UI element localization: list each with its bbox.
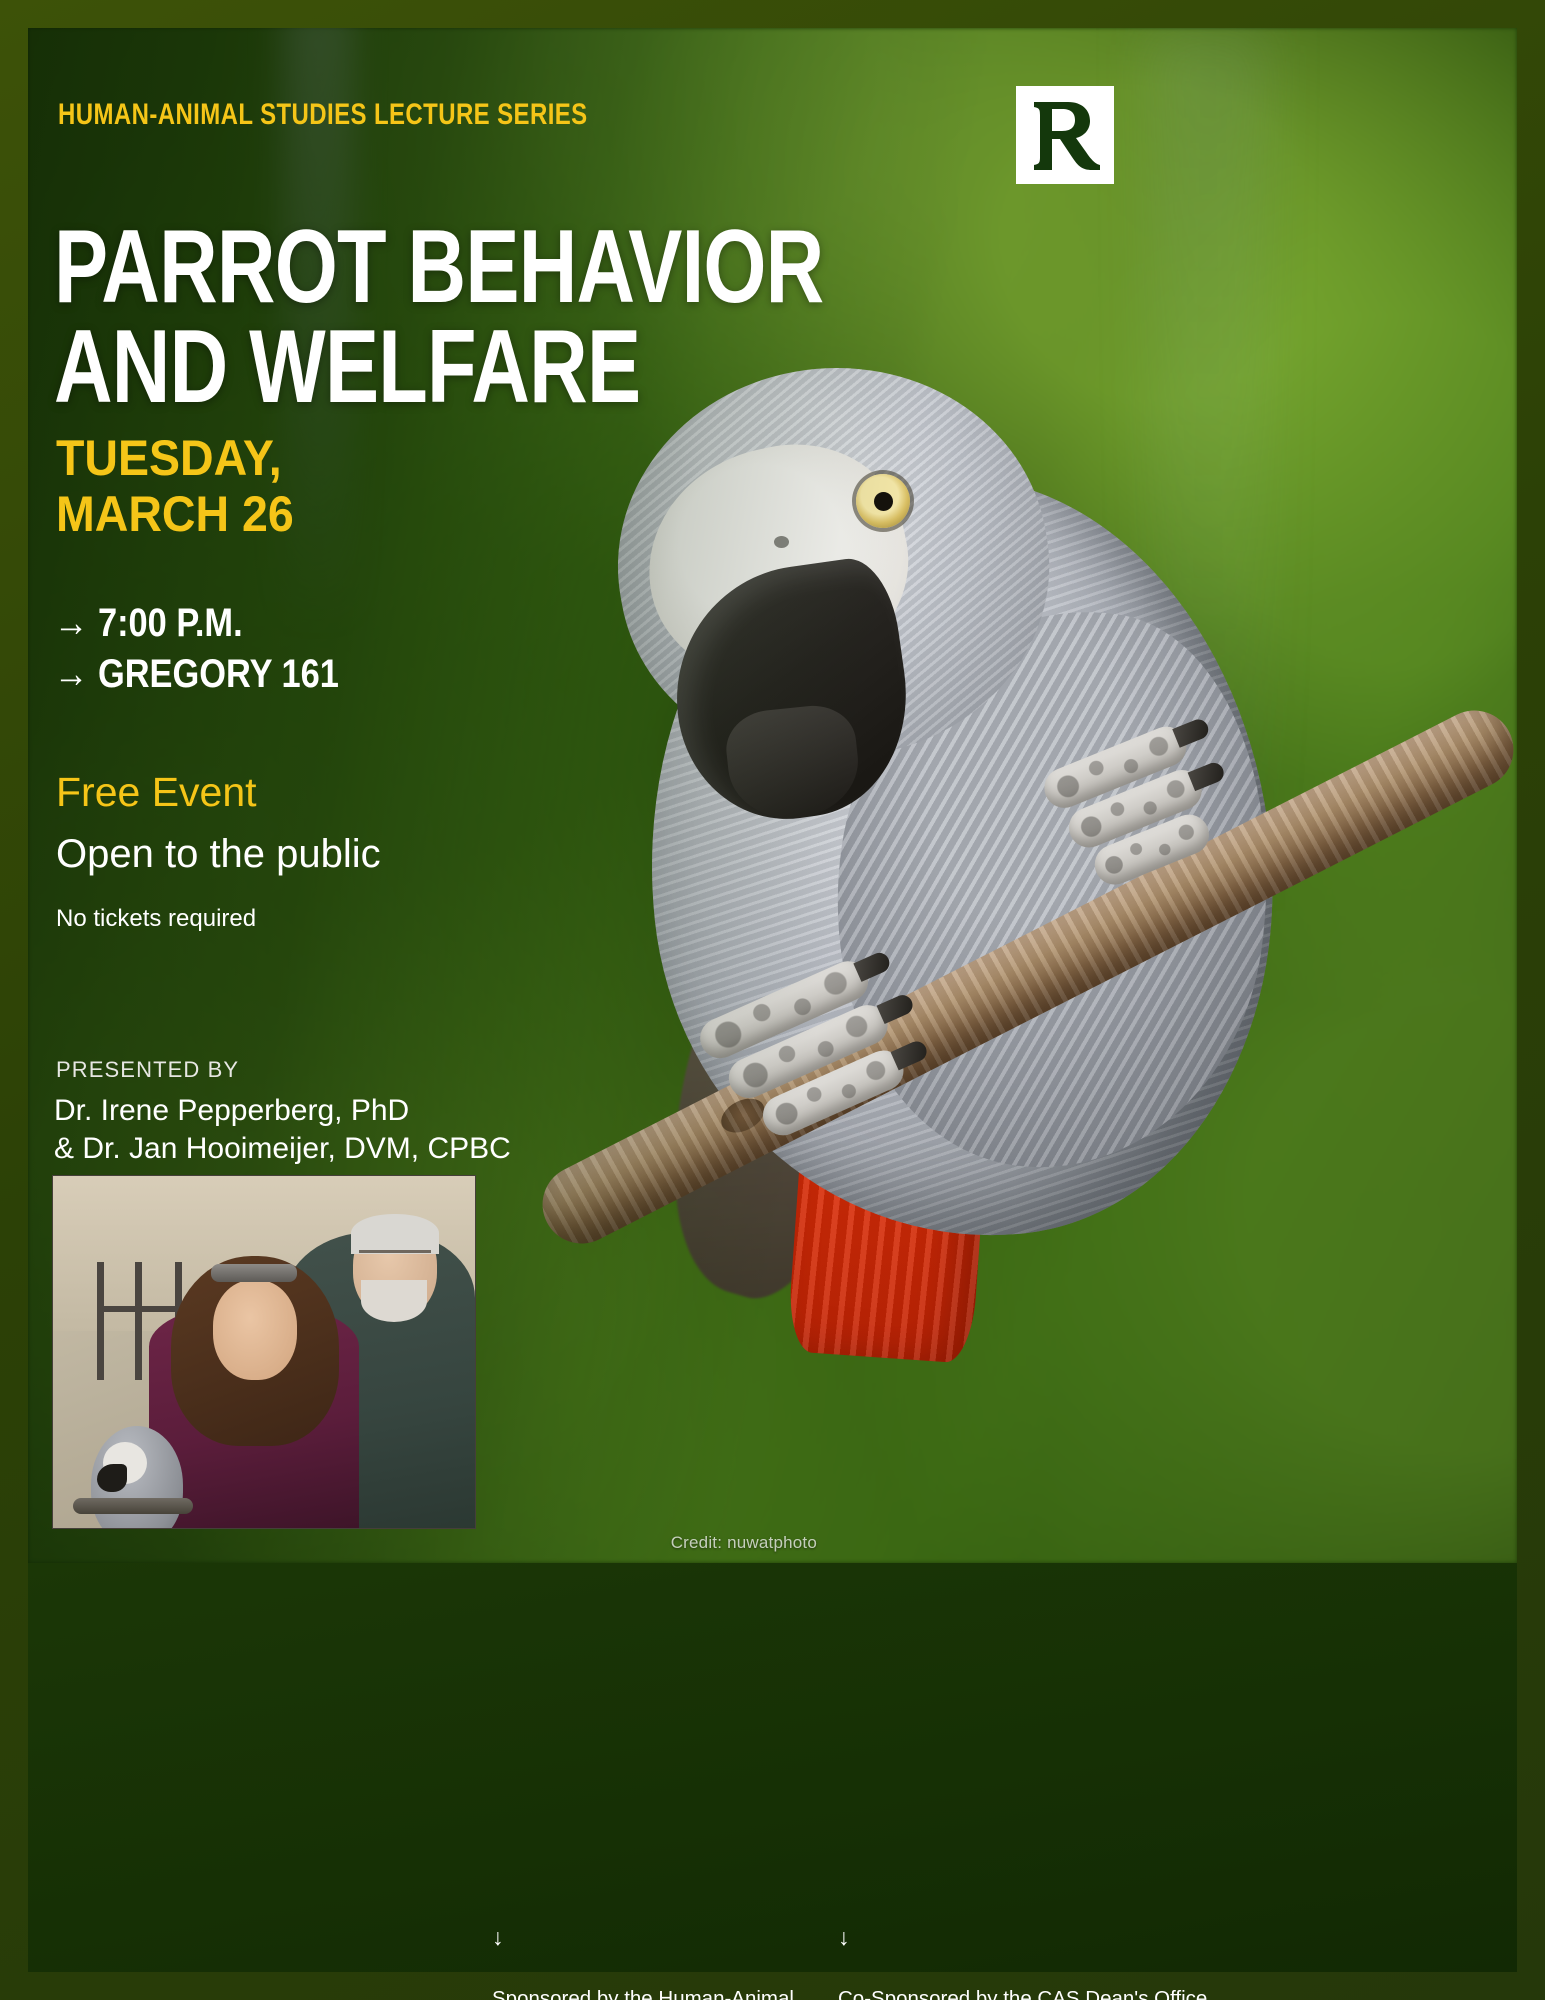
photo-man-glasses [359,1250,431,1268]
series-eyebrow: HUMAN-ANIMAL STUDIES LECTURE SERIES [58,98,588,132]
photo-woman-head [213,1280,297,1380]
no-tickets-label: No tickets required [56,905,256,933]
photo-parrot-beak [97,1464,127,1492]
sponsor-right-text: Co-Sponsored by the CAS Dean's Office, t… [838,1987,1213,2000]
sponsor-block-right: ↓ Co-Sponsored by the CAS Dean's Office,… [838,1898,1258,2000]
arrow-down-icon: ↓ [492,1926,852,1949]
speakers-photo [52,1175,476,1529]
presenter-names: Dr. Irene Pepperberg, PhD & Dr. Jan Hooi… [54,1092,511,1169]
event-poster: Credit: nuwatphoto HUMAN-ANIMAL STUDIES … [0,0,1545,2000]
sponsor-left-text: Sponsored by the Human-Animal Studies De… [492,1987,794,2000]
presented-by-label: PRESENTED BY [56,1057,239,1083]
event-time-location: → 7:00 P.M. → GREGORY 161 [54,598,339,700]
photo-man-beard [361,1280,427,1322]
page-title: PARROT BEHAVIOR AND WELFARE [54,218,823,418]
free-event-label: Free Event [56,770,257,815]
sponsor-block-left: ↓ Sponsored by the Human-Animal Studies … [492,1898,852,2000]
arrow-down-icon: ↓ [838,1926,1258,1949]
photo-man-hair [351,1214,439,1254]
photo-parrot-perch [73,1498,193,1514]
photo-woman-sunglasses [211,1264,297,1282]
photo-credit: Credit: nuwatphoto [671,1533,817,1553]
event-date: TUESDAY, MARCH 26 [56,430,294,542]
open-to-public-label: Open to the public [56,832,381,876]
redlands-r-logo [1016,86,1114,184]
